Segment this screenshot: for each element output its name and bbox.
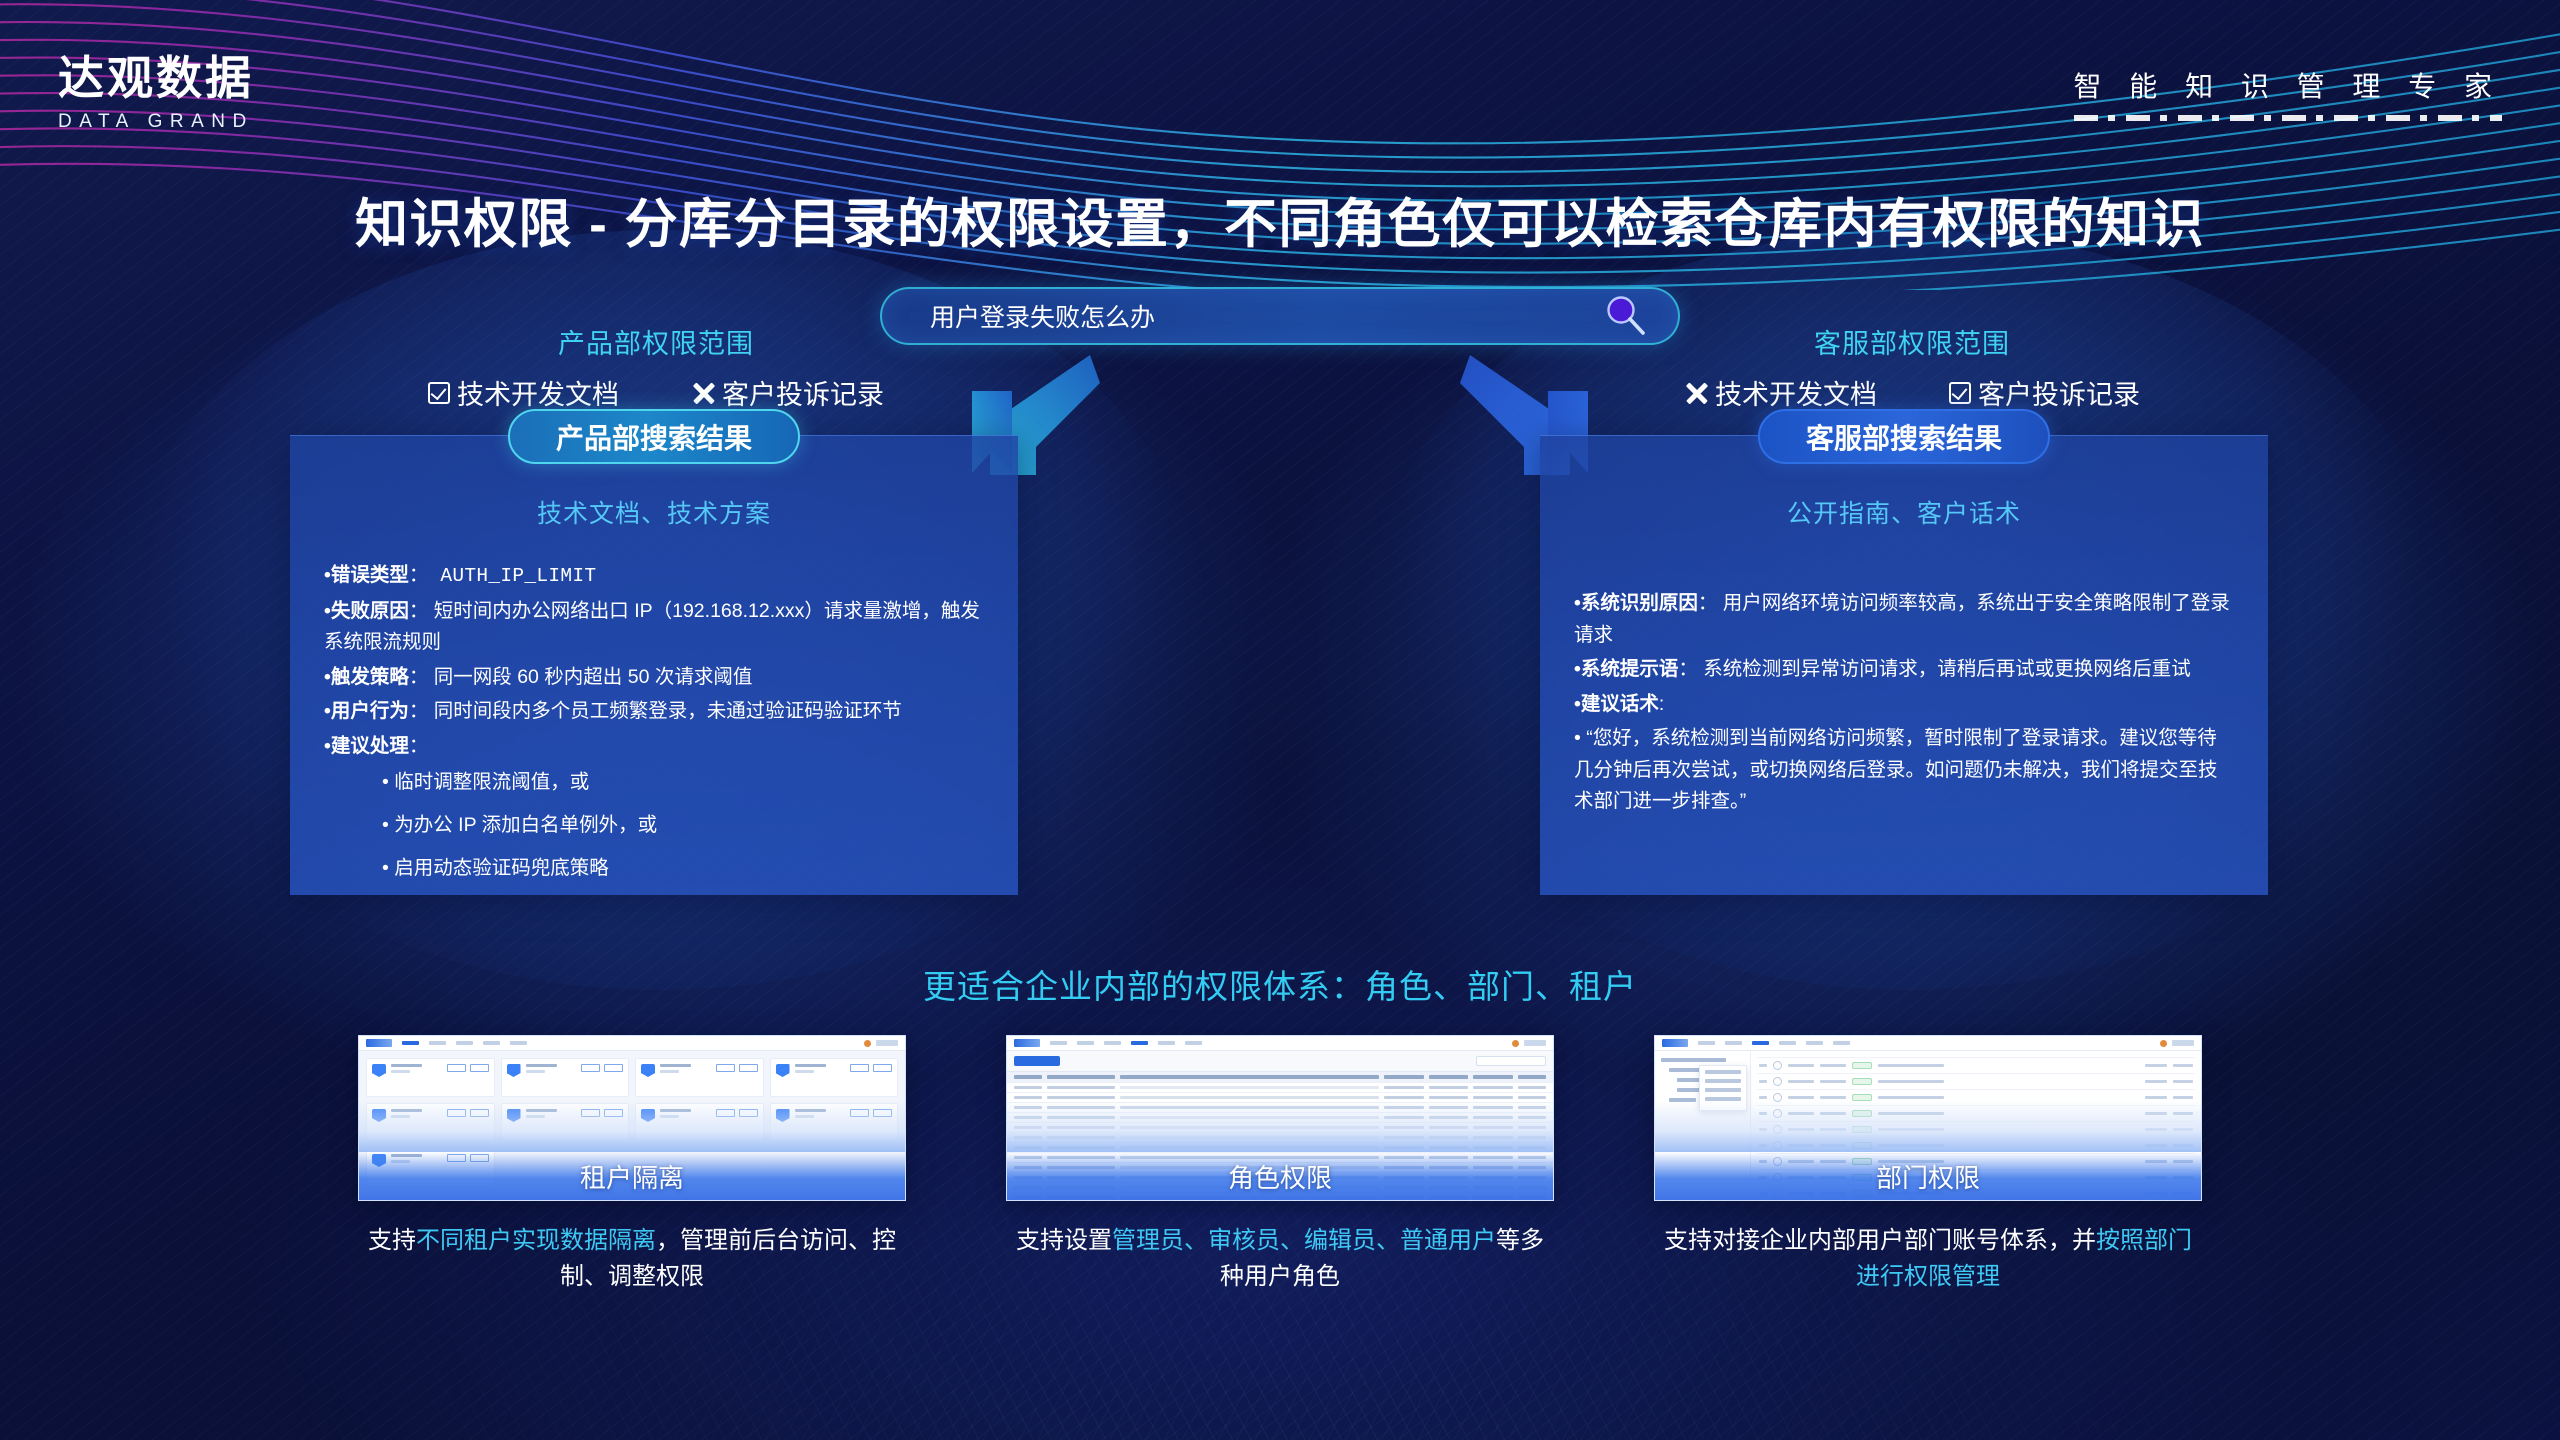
scope-left-item-2: 客户投诉记录: [691, 373, 884, 412]
tenant-name: [660, 1064, 691, 1067]
tenant-icon: [507, 1064, 521, 1077]
avatar: [1773, 1077, 1782, 1086]
table-cell: [1120, 1086, 1379, 1089]
result-row-sep: ：: [1698, 592, 1718, 614]
user-account: [1820, 1112, 1846, 1115]
result-row-value: 同时间段内多个员工频繁登录，未通过验证码验证环节: [428, 700, 901, 722]
feature-desc-text: 支持对接企业内部用户部门账号体系，并: [1664, 1227, 2096, 1254]
table-cell: [1518, 1116, 1546, 1119]
tenant-action-button: [604, 1109, 623, 1117]
result-sub-item: • “您好，系统检测到当前网络访问频繁，暂时限制了登录请求。建议您等待几分钟后再…: [1574, 723, 2234, 818]
search-input[interactable]: 用户登录失败怎么办: [930, 298, 1602, 334]
result-row-key: 触发策略: [331, 666, 409, 688]
user-account: [1820, 1128, 1846, 1131]
bullet-icon: •: [324, 666, 331, 688]
tenant-actions: [716, 1064, 758, 1091]
table-column-header: [1384, 1075, 1423, 1079]
tenant-icon: [776, 1109, 790, 1122]
brand-logo: 达观数据 DATA GRAND: [58, 55, 254, 133]
scope-left-item-2-label: 客户投诉记录: [722, 373, 884, 412]
tenant-action-button: [581, 1064, 600, 1072]
table-cell: [1014, 1146, 1042, 1149]
result-row: •建议处理：: [324, 731, 984, 763]
table-row: [1007, 1142, 1553, 1152]
screenshot-topbar: [1007, 1036, 1553, 1051]
tenant-card: [770, 1103, 899, 1142]
bullet-icon: •: [1574, 693, 1581, 715]
list-item: [1757, 1089, 2195, 1105]
status-badge: [1852, 1078, 1872, 1085]
bullet-icon: •: [324, 564, 331, 586]
table-cell: [1473, 1146, 1512, 1149]
tenant-icon: [372, 1109, 386, 1122]
user-role: [2145, 1112, 2167, 1115]
bullet-icon: •: [1574, 592, 1581, 614]
screenshot-department-users[interactable]: 部门权限: [1654, 1035, 2202, 1201]
nav-item: [1185, 1041, 1202, 1045]
table-cell: [1518, 1106, 1546, 1109]
table-cell: [1047, 1116, 1115, 1119]
user-department: [1878, 1096, 1944, 1099]
table-cell: [1047, 1086, 1115, 1089]
slide-root: 达观数据 DATA GRAND 智 能 知 识 管 理 专 家 知识权限 - 分…: [0, 0, 2560, 1440]
status-badge: [1852, 1110, 1872, 1117]
result-left-pill: 产品部搜索结果: [508, 409, 800, 464]
table-row: [1007, 1122, 1553, 1132]
user-name: [1788, 1080, 1814, 1083]
user-account: [1820, 1080, 1846, 1083]
table-cell: [1473, 1106, 1512, 1109]
nav-item: [456, 1041, 473, 1045]
user-role: [2145, 1064, 2167, 1067]
table-cell: [1047, 1096, 1115, 1099]
tenant-action-button: [581, 1109, 600, 1117]
nav-item: [429, 1041, 446, 1045]
result-row-key: 系统识别原因: [1581, 592, 1698, 614]
feature-role-permission: 角色权限 支持设置管理员、审核员、编辑员、普通用户等多种用户角色: [1006, 1035, 1554, 1295]
table-cell: [1429, 1086, 1468, 1089]
row-actions: [2173, 1144, 2193, 1147]
result-row-key: 建议处理: [331, 735, 409, 757]
row-index: [1759, 1096, 1767, 1099]
tenant-card: [635, 1103, 764, 1142]
add-button: [1014, 1056, 1060, 1066]
user-name: [1788, 1096, 1814, 1099]
table-cell: [1384, 1096, 1423, 1099]
cross-icon: [691, 381, 715, 405]
result-row: •建议话术:: [1574, 689, 2234, 721]
result-right-body: •系统识别原因： 用户网络环境访问频率较高，系统出于安全策略限制了登录请求•系统…: [1540, 530, 2268, 818]
result-row-key: 建议话术: [1581, 693, 1659, 715]
nav-item: [1752, 1041, 1769, 1045]
tenant-actions: [581, 1064, 623, 1091]
result-row: •系统识别原因： 用户网络环境访问频率较高，系统出于安全策略限制了登录请求: [1574, 588, 2234, 651]
table-cell: [1120, 1126, 1379, 1129]
result-right-rows: •系统识别原因： 用户网络环境访问频率较高，系统出于安全策略限制了登录请求•系统…: [1574, 588, 2234, 720]
nav-item: [483, 1041, 500, 1045]
tenant-actions: [447, 1064, 489, 1091]
nav-item: [402, 1041, 419, 1045]
table-cell: [1014, 1106, 1042, 1109]
table-header-row: [1007, 1071, 1553, 1082]
user-name: [1788, 1144, 1814, 1147]
table-column-header: [1429, 1075, 1468, 1079]
tenant-icon: [641, 1109, 655, 1122]
feature-desc-text: 支持设置: [1016, 1227, 1112, 1254]
result-row: •错误类型： AUTH_IP_LIMIT: [324, 560, 984, 593]
nav-item: [1698, 1041, 1715, 1045]
check-icon: [428, 382, 450, 404]
scope-left-title: 产品部权限范围: [336, 322, 976, 361]
screenshot-tenant-grid[interactable]: 租户隔离: [358, 1035, 906, 1201]
table-cell: [1047, 1136, 1115, 1139]
check-icon: [1949, 382, 1971, 404]
row-actions: [2173, 1064, 2193, 1067]
row-index: [1759, 1144, 1767, 1147]
nav-item: [1131, 1041, 1148, 1045]
tenant-id: [795, 1115, 814, 1118]
nav-item: [1158, 1041, 1175, 1045]
tenant-icon: [507, 1109, 521, 1122]
table-cell: [1518, 1146, 1546, 1149]
account-label: [2172, 1040, 2194, 1046]
row-actions: [2173, 1080, 2193, 1083]
tenant-action-button: [716, 1109, 735, 1117]
bell-icon: [864, 1040, 871, 1047]
avatar: [1773, 1061, 1782, 1070]
avatar: [1773, 1141, 1782, 1150]
tenant-action-button: [604, 1064, 623, 1072]
list-item: [1757, 1121, 2195, 1137]
table-cell: [1473, 1086, 1512, 1089]
app-logo-icon: [1662, 1039, 1688, 1047]
tenant-meta: [795, 1064, 846, 1091]
result-row-value: 同一网段 60 秒内超出 50 次请求阈值: [428, 666, 752, 688]
tenant-actions: [716, 1109, 758, 1136]
result-left-body: •错误类型： AUTH_IP_LIMIT•失败原因： 短时间内办公网络出口 IP…: [290, 530, 1018, 884]
table-cell: [1518, 1136, 1546, 1139]
avatar: [1773, 1093, 1782, 1102]
tenant-actions: [850, 1109, 892, 1136]
page-title: 知识权限 - 分库分目录的权限设置，不同角色仅可以检索仓库内有权限的知识: [0, 182, 2560, 258]
bell-icon: [2160, 1040, 2167, 1047]
table-cell: [1384, 1106, 1423, 1109]
result-left-sublist: • 临时调整限流阈值，或• 为办公 IP 添加白名单例外，或• 启用动态验证码兜…: [324, 767, 984, 884]
search-bar[interactable]: 用户登录失败怎么办: [880, 287, 1680, 345]
result-right-pill: 客服部搜索结果: [1758, 409, 2050, 464]
user-name: [1788, 1064, 1814, 1067]
table-column-header: [1120, 1075, 1379, 1079]
table-search-input: [1476, 1056, 1546, 1066]
feature-caption-2: 角色权限: [1007, 1152, 1553, 1200]
user-account: [1820, 1096, 1846, 1099]
tenant-name: [795, 1109, 826, 1112]
tenant-action-button: [716, 1064, 735, 1072]
feature-caption-3: 部门权限: [1655, 1152, 2201, 1200]
row-actions: [2173, 1096, 2193, 1099]
result-right-sublist: • “您好，系统检测到当前网络访问频繁，暂时限制了登录请求。建议您等待几分钟后再…: [1574, 723, 2234, 818]
result-left-rows: •错误类型： AUTH_IP_LIMIT•失败原因： 短时间内办公网络出口 IP…: [324, 560, 984, 762]
row-actions: [2173, 1128, 2193, 1131]
context-menu[interactable]: [1699, 1065, 1747, 1111]
tenant-action-button: [470, 1064, 489, 1072]
cross-icon: [1684, 381, 1708, 405]
table-column-header: [1014, 1075, 1042, 1079]
table-cell: [1429, 1126, 1468, 1129]
menu-item[interactable]: [1705, 1097, 1741, 1101]
tenant-icon: [641, 1064, 655, 1077]
table-column-header: [1047, 1075, 1115, 1079]
result-sub-item: • 为办公 IP 添加白名单例外，或: [382, 810, 984, 842]
user-role: [2145, 1128, 2167, 1131]
table-cell: [1120, 1116, 1379, 1119]
status-badge: [1852, 1142, 1872, 1149]
tenant-id: [391, 1070, 410, 1073]
table-cell: [1384, 1126, 1423, 1129]
tenant-action-button: [850, 1064, 869, 1072]
list-item: [1757, 1105, 2195, 1121]
feature-desc-1: 支持不同租户实现数据隔离，管理前后台访问、控制、调整权限: [358, 1223, 906, 1295]
tenant-action-button: [873, 1109, 892, 1117]
feature-caption-1: 租户隔离: [359, 1152, 905, 1200]
result-row-key: 用户行为: [331, 700, 409, 722]
row-actions: [2173, 1112, 2193, 1115]
avatar: [1773, 1125, 1782, 1134]
table-row: [1007, 1112, 1553, 1122]
user-role: [2145, 1144, 2167, 1147]
bell-icon: [1512, 1040, 1519, 1047]
scope-left-item-1-label: 技术开发文档: [457, 373, 619, 412]
feature-desc-highlight: 管理员、审核员、编辑员、普通用户: [1112, 1227, 1496, 1254]
screenshot-topbar: [1655, 1036, 2201, 1051]
user-account: [1820, 1144, 1846, 1147]
result-right-subtitle: 公开指南、客户话术: [1540, 494, 2268, 530]
feature-desc-highlight: 不同租户实现数据隔离: [416, 1227, 656, 1254]
tenant-card: [770, 1058, 899, 1097]
feature-desc-2: 支持设置管理员、审核员、编辑员、普通用户等多种用户角色: [1006, 1223, 1554, 1295]
table-cell: [1518, 1126, 1546, 1129]
scope-right-item-1-label: 技术开发文档: [1715, 373, 1877, 412]
screenshot-role-table[interactable]: 角色权限: [1006, 1035, 1554, 1201]
result-row-sep: :: [1659, 693, 1664, 715]
status-badge: [1852, 1126, 1872, 1133]
result-row-key: 系统提示语: [1581, 658, 1679, 680]
tenant-name: [391, 1109, 422, 1112]
tenant-meta: [391, 1109, 442, 1136]
tenant-card: [501, 1103, 630, 1142]
scope-right-item-1: 技术开发文档: [1684, 373, 1877, 412]
result-card-right: 客服部搜索结果 公开指南、客户话术 •系统识别原因： 用户网络环境访问频率较高，…: [1540, 435, 2268, 895]
table-cell: [1120, 1146, 1379, 1149]
table-cell: [1429, 1146, 1468, 1149]
tenant-card: [501, 1058, 630, 1097]
list-item: [1757, 1137, 2195, 1153]
bullet-icon: •: [324, 600, 331, 622]
table-row: [1007, 1102, 1553, 1112]
brand-name-en: DATA GRAND: [58, 111, 254, 133]
user-department: [1878, 1144, 1944, 1147]
table-cell: [1473, 1126, 1512, 1129]
result-row-key: 失败原因: [331, 600, 409, 622]
nav-item: [1833, 1041, 1850, 1045]
tenant-action-button: [470, 1109, 489, 1117]
header-tagline: 智 能 知 识 管 理 专 家: [2074, 73, 2502, 121]
result-row-sep: ：: [409, 564, 429, 586]
table-cell: [1473, 1136, 1512, 1139]
tenant-action-button: [850, 1109, 869, 1117]
tagline-text: 智 能 知 识 管 理 专 家: [2074, 73, 2502, 101]
row-index: [1759, 1064, 1767, 1067]
result-row-sep: ：: [409, 700, 429, 722]
scope-right-title: 客服部权限范围: [1592, 322, 2232, 361]
tenant-name: [526, 1064, 557, 1067]
status-badge: [1852, 1094, 1872, 1101]
result-row-value: 系统检测到异常访问请求，请稍后再试或更换网络后重试: [1698, 658, 2191, 680]
tenant-meta: [660, 1109, 711, 1136]
tenant-id: [391, 1115, 410, 1118]
user-department: [1878, 1112, 1944, 1115]
screenshot-topbar: [359, 1036, 905, 1051]
table-cell: [1014, 1116, 1042, 1119]
tenant-id: [660, 1070, 679, 1073]
tenant-action-button: [447, 1064, 466, 1072]
list-item: [1757, 1073, 2195, 1089]
row-index: [1759, 1112, 1767, 1115]
bullet-icon: •: [1574, 658, 1581, 680]
table-column-header: [1473, 1075, 1512, 1079]
table-cell: [1014, 1086, 1042, 1089]
scope-right-item-2: 客户投诉记录: [1949, 373, 2140, 412]
feature-tenant-isolation: 租户隔离 支持不同租户实现数据隔离，管理前后台访问、控制、调整权限: [358, 1035, 906, 1295]
tenant-actions: [850, 1064, 892, 1091]
table-cell: [1384, 1136, 1423, 1139]
result-sub-item: • 启用动态验证码兜底策略: [382, 853, 984, 885]
tenant-actions: [447, 1109, 489, 1136]
tenant-id: [795, 1070, 814, 1073]
table-row: [1007, 1132, 1553, 1142]
user-name: [1788, 1112, 1814, 1115]
table-cell: [1429, 1096, 1468, 1099]
result-row: •触发策略： 同一网段 60 秒内超出 50 次请求阈值: [324, 662, 984, 694]
table-cell: [1384, 1086, 1423, 1089]
tenant-name: [795, 1064, 826, 1067]
app-logo-icon: [366, 1039, 392, 1047]
table-cell: [1047, 1126, 1115, 1129]
tenant-meta: [526, 1064, 577, 1091]
scope-left-item-1: 技术开发文档: [428, 373, 619, 412]
table-cell: [1014, 1136, 1042, 1139]
feature-department-permission: 部门权限 支持对接企业内部用户部门账号体系，并按照部门进行权限管理: [1654, 1035, 2202, 1295]
tenant-meta: [795, 1109, 846, 1136]
menu-item[interactable]: [1705, 1079, 1741, 1083]
nav-item: [1806, 1041, 1823, 1045]
menu-item[interactable]: [1705, 1088, 1741, 1092]
app-logo-icon: [1014, 1039, 1040, 1047]
nav-item: [1779, 1041, 1796, 1045]
result-card-left: 产品部搜索结果 技术文档、技术方案 •错误类型： AUTH_IP_LIMIT•失…: [290, 435, 1018, 895]
tenant-name: [526, 1109, 557, 1112]
scope-right: 客服部权限范围 技术开发文档 客户投诉记录: [1592, 322, 2232, 412]
user-account: [1820, 1064, 1846, 1067]
tenant-card: [366, 1103, 495, 1142]
table-cell: [1473, 1116, 1512, 1119]
table-cell: [1047, 1146, 1115, 1149]
tenant-id: [526, 1070, 545, 1073]
feature-desc-3: 支持对接企业内部用户部门账号体系，并按照部门进行权限管理: [1654, 1223, 2202, 1295]
tenant-card: [635, 1058, 764, 1097]
result-row-key: 错误类型: [331, 564, 409, 586]
table-cell: [1014, 1126, 1042, 1129]
result-row: •系统提示语： 系统检测到异常访问请求，请稍后再试或更换网络后重试: [1574, 654, 2234, 686]
result-row-sep: ：: [1678, 658, 1698, 680]
nav-item: [510, 1041, 527, 1045]
list-item: [1757, 1057, 2195, 1073]
table-cell: [1014, 1096, 1042, 1099]
table-cell: [1120, 1096, 1379, 1099]
tenant-action-button: [739, 1064, 758, 1072]
menu-item[interactable]: [1705, 1070, 1741, 1074]
table-cell: [1518, 1086, 1546, 1089]
tenant-name: [660, 1109, 691, 1112]
table-row: [1007, 1082, 1553, 1092]
table-cell: [1429, 1116, 1468, 1119]
bullet-icon: •: [324, 735, 331, 757]
user-name: [1788, 1128, 1814, 1131]
table-column-header: [1518, 1075, 1546, 1079]
result-row: •失败原因： 短时间内办公网络出口 IP（192.168.12.xxx）请求量激…: [324, 596, 984, 659]
table-cell: [1384, 1146, 1423, 1149]
tenant-action-button: [873, 1064, 892, 1072]
account-label: [1524, 1040, 1546, 1046]
brand-name-cn: 达观数据: [58, 55, 254, 101]
tenant-icon: [776, 1064, 790, 1077]
table-cell: [1120, 1136, 1379, 1139]
status-badge: [1852, 1062, 1872, 1069]
table-toolbar: [1007, 1051, 1553, 1071]
table-cell: [1429, 1136, 1468, 1139]
tenant-card: [366, 1058, 495, 1097]
result-row: •用户行为： 同时间段内多个员工频繁登录，未通过验证码验证环节: [324, 696, 984, 728]
feature-desc-text: 支持: [368, 1227, 416, 1254]
tenant-meta: [660, 1064, 711, 1091]
user-department: [1878, 1064, 1944, 1067]
tenant-meta: [391, 1064, 442, 1091]
user-role: [2145, 1080, 2167, 1083]
nav-item: [1725, 1041, 1742, 1045]
result-row-value: AUTH_IP_LIMIT: [428, 565, 596, 587]
result-row-sep: ：: [409, 735, 429, 757]
table-cell: [1429, 1106, 1468, 1109]
user-department: [1878, 1080, 1944, 1083]
tenant-id: [526, 1115, 545, 1118]
tenant-actions: [581, 1109, 623, 1136]
tenant-name: [391, 1064, 422, 1067]
scope-left: 产品部权限范围 技术开发文档 客户投诉记录: [336, 322, 976, 412]
account-label: [876, 1040, 898, 1046]
bottom-section-heading: 更适合企业内部的权限体系：角色、部门、租户: [0, 960, 2560, 1008]
table-cell: [1047, 1106, 1115, 1109]
table-cell: [1473, 1096, 1512, 1099]
tenant-id: [660, 1115, 679, 1118]
scope-right-item-2-label: 客户投诉记录: [1978, 373, 2140, 412]
table-row: [1007, 1092, 1553, 1102]
table-cell: [1120, 1106, 1379, 1109]
user-department: [1878, 1128, 1944, 1131]
row-index: [1759, 1128, 1767, 1131]
nav-item: [1050, 1041, 1067, 1045]
tenant-meta: [526, 1109, 577, 1136]
result-row-sep: ：: [409, 600, 429, 622]
